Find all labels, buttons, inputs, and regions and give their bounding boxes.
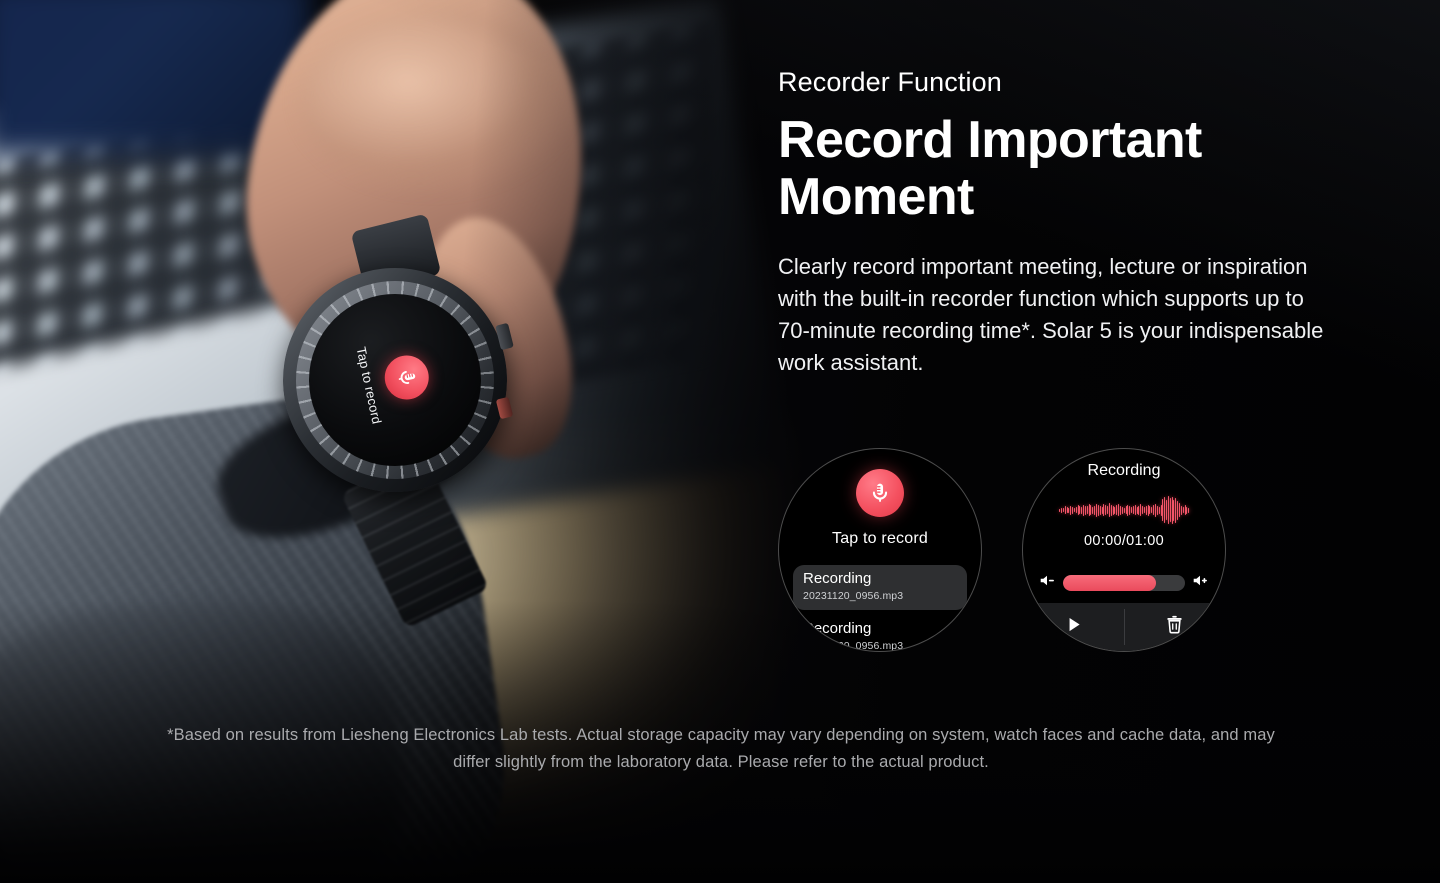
recording-title: Recording xyxy=(803,621,957,638)
waveform-bar xyxy=(1173,500,1174,521)
eyebrow-label: Recorder Function xyxy=(778,66,1338,98)
waveform-bar xyxy=(1103,504,1104,516)
volume-slider-fill xyxy=(1063,575,1156,591)
waveform-bar xyxy=(1116,505,1117,515)
waveform-bar xyxy=(1181,506,1182,515)
page-title: Record Important Moment xyxy=(778,112,1323,224)
waveform-bar xyxy=(1135,505,1136,515)
waveform-bar xyxy=(1138,506,1139,515)
waveform-bar xyxy=(1098,505,1099,516)
waveform-bar xyxy=(1076,507,1077,513)
waveform-bar xyxy=(1146,506,1147,515)
waveform-bar xyxy=(1126,506,1127,514)
waveform-bar xyxy=(1065,506,1066,514)
waveform-bar xyxy=(1164,497,1165,523)
waveform-bar xyxy=(1172,497,1173,524)
trash-icon xyxy=(1164,614,1185,640)
play-button[interactable] xyxy=(1023,603,1124,651)
recordings-list: Recording 20231120_0956.mp3 Recording 20… xyxy=(793,565,967,652)
waveform-bar xyxy=(1148,505,1149,516)
disclaimer-text: *Based on results from Liesheng Electron… xyxy=(150,722,1292,775)
waveform-bar xyxy=(1168,496,1169,524)
waveform-bar xyxy=(1177,501,1178,520)
tap-to-record-label: Tap to record xyxy=(779,530,981,548)
playback-button-bar xyxy=(1023,603,1225,651)
waveform-bar xyxy=(1179,503,1180,517)
waveform-bar xyxy=(1113,506,1114,515)
waveform-bar xyxy=(1161,505,1162,516)
waveform-bar xyxy=(1111,505,1112,516)
waveform-bar xyxy=(1151,507,1152,513)
waveform-bar xyxy=(1081,507,1082,514)
waveform-bar xyxy=(1162,499,1163,521)
waveform-bar xyxy=(1186,507,1187,514)
waveform-bar xyxy=(1083,505,1084,516)
list-item[interactable]: Recording 20231120_0956.mp3 xyxy=(793,565,967,610)
volume-slider[interactable] xyxy=(1063,575,1185,591)
waveform-bar xyxy=(1085,506,1086,515)
waveform-bar xyxy=(1127,505,1128,516)
copy-block: Recorder Function Record Important Momen… xyxy=(778,66,1338,379)
waveform-bar xyxy=(1089,504,1090,516)
waveform-bar xyxy=(1059,509,1060,512)
waveform-bar xyxy=(1157,506,1158,515)
promo-banner: Tap to record Recorder Function Record I… xyxy=(0,0,1440,883)
waveform-bar xyxy=(1149,506,1150,514)
playback-title: Recording xyxy=(1023,462,1225,480)
waveform-bar xyxy=(1142,506,1143,514)
waveform-bar xyxy=(1067,507,1068,513)
waveform-bar xyxy=(1155,504,1156,517)
waveform-bar xyxy=(1140,504,1141,516)
waveform-bar xyxy=(1105,505,1106,515)
waveform-bar xyxy=(1153,505,1154,515)
waveform-bar xyxy=(1120,506,1121,515)
waveform-bar xyxy=(1131,507,1132,513)
waveform-bar xyxy=(1100,506,1101,515)
waveform-bar xyxy=(1124,508,1125,513)
waveform-bar xyxy=(1078,505,1079,515)
volume-down-icon[interactable] xyxy=(1039,573,1056,593)
waveform-bar xyxy=(1072,507,1073,514)
waveform-bar xyxy=(1170,498,1171,522)
recording-title: Recording xyxy=(803,571,957,588)
play-icon xyxy=(1063,614,1084,640)
recording-filename: 20231120_0956.mp3 xyxy=(803,640,957,652)
waveform-bar xyxy=(1061,508,1062,513)
waveform-bar xyxy=(1070,506,1071,515)
waveform-bar xyxy=(1166,500,1167,520)
audio-waveform xyxy=(1059,495,1189,525)
delete-button[interactable] xyxy=(1125,603,1226,651)
waveform-bar xyxy=(1107,506,1108,514)
waveform-bar xyxy=(1175,498,1176,523)
waveform-bar xyxy=(1092,507,1093,514)
microphone-icon[interactable] xyxy=(856,469,904,517)
waveform-bar xyxy=(1102,507,1103,514)
volume-up-icon[interactable] xyxy=(1192,573,1209,593)
waveform-bar xyxy=(1118,504,1119,516)
waveform-bar xyxy=(1144,507,1145,513)
waveform-bar xyxy=(1079,506,1080,514)
waveform-bar xyxy=(1188,508,1189,513)
waveform-bar xyxy=(1087,506,1088,514)
waveform-bar xyxy=(1094,506,1095,515)
waveform-bar xyxy=(1159,507,1160,514)
waveform-bar xyxy=(1129,506,1130,515)
watch-ui-recorder-list: Tap to record Recording 20231120_0956.mp… xyxy=(778,448,982,652)
recording-filename: 20231120_0956.mp3 xyxy=(803,590,957,602)
waveform-bar xyxy=(1183,507,1184,513)
waveform-bar xyxy=(1114,507,1115,514)
waveform-bar xyxy=(1074,508,1075,512)
waveform-bar xyxy=(1063,508,1064,512)
waveform-bar xyxy=(1109,503,1110,517)
watch-ui-playback: Recording 00:00/01:00 xyxy=(1022,448,1226,652)
waveform-bar xyxy=(1068,508,1069,513)
body-paragraph: Clearly record important meeting, lectur… xyxy=(778,251,1330,379)
waveform-bar xyxy=(1137,507,1138,514)
waveform-bar xyxy=(1185,505,1186,515)
volume-row xyxy=(1039,573,1209,593)
waveform-bar xyxy=(1122,507,1123,514)
waveform-bar xyxy=(1133,506,1134,514)
playback-time: 00:00/01:00 xyxy=(1023,533,1225,549)
waveform-bar xyxy=(1090,505,1091,515)
waveform-bar xyxy=(1096,504,1097,517)
list-item[interactable]: Recording 20231120_0956.mp3 xyxy=(793,615,967,652)
